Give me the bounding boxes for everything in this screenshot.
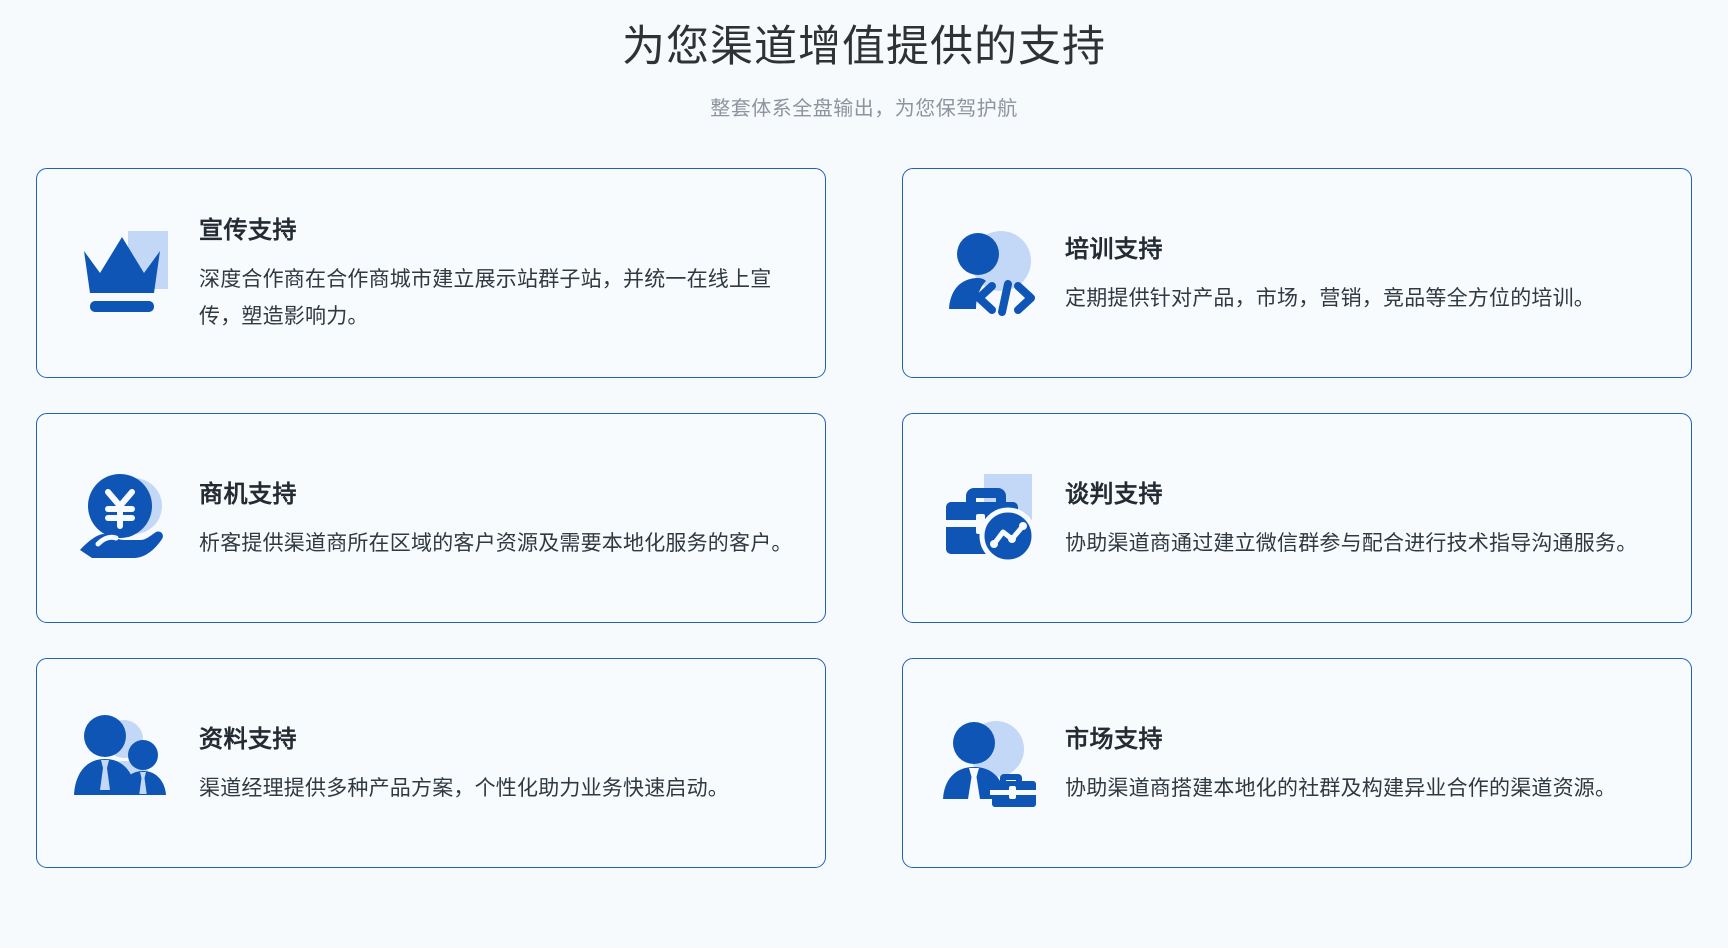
card-title: 培训支持 xyxy=(1065,229,1659,264)
support-card-training[interactable]: 培训支持 定期提供针对产品，市场，营销，竞品等全方位的培训。 xyxy=(902,168,1692,378)
support-cards-grid: 宣传支持 深度合作商在合作商城市建立展示站群子站，并统一在线上宣传，塑造影响力。… xyxy=(36,168,1692,868)
card-body: 谈判支持 协助渠道商通过建立微信群参与配合进行技术指导沟通服务。 xyxy=(1065,474,1665,563)
card-body: 培训支持 定期提供针对产品，市场，营销，竞品等全方位的培训。 xyxy=(1065,229,1665,318)
support-card-promotion[interactable]: 宣传支持 深度合作商在合作商城市建立展示站群子站，并统一在线上宣传，塑造影响力。 xyxy=(36,168,826,378)
card-body: 市场支持 协助渠道商搭建本地化的社群及构建异业合作的渠道资源。 xyxy=(1065,719,1665,808)
card-description: 协助渠道商通过建立微信群参与配合进行技术指导沟通服务。 xyxy=(1065,526,1659,563)
page-title: 为您渠道增值提供的支持 xyxy=(0,18,1728,76)
crown-icon xyxy=(65,214,183,332)
hand-yuan-coin-icon xyxy=(65,459,183,577)
person-briefcase-icon xyxy=(931,704,1049,822)
two-people-icon xyxy=(65,704,183,822)
card-body: 资料支持 渠道经理提供多种产品方案，个性化助力业务快速启动。 xyxy=(199,719,799,808)
card-title: 商机支持 xyxy=(199,474,793,509)
card-description: 定期提供针对产品，市场，营销，竞品等全方位的培训。 xyxy=(1065,281,1659,318)
briefcase-chart-icon xyxy=(931,459,1049,577)
support-card-business-opportunity[interactable]: 商机支持 析客提供渠道商所在区域的客户资源及需要本地化服务的客户。 xyxy=(36,413,826,623)
card-body: 商机支持 析客提供渠道商所在区域的客户资源及需要本地化服务的客户。 xyxy=(199,474,799,563)
card-description: 析客提供渠道商所在区域的客户资源及需要本地化服务的客户。 xyxy=(199,526,793,563)
support-card-materials[interactable]: 资料支持 渠道经理提供多种产品方案，个性化助力业务快速启动。 xyxy=(36,658,826,868)
card-body: 宣传支持 深度合作商在合作商城市建立展示站群子站，并统一在线上宣传，塑造影响力。 xyxy=(199,210,799,336)
card-title: 市场支持 xyxy=(1065,719,1659,754)
page-subtitle: 整套体系全盘输出，为您保驾护航 xyxy=(0,92,1728,121)
support-card-negotiation[interactable]: 谈判支持 协助渠道商通过建立微信群参与配合进行技术指导沟通服务。 xyxy=(902,413,1692,623)
card-description: 协助渠道商搭建本地化的社群及构建异业合作的渠道资源。 xyxy=(1065,771,1659,808)
card-title: 谈判支持 xyxy=(1065,474,1659,509)
support-card-market[interactable]: 市场支持 协助渠道商搭建本地化的社群及构建异业合作的渠道资源。 xyxy=(902,658,1692,868)
support-section: 为您渠道增值提供的支持 整套体系全盘输出，为您保驾护航 宣传支持 深度合作商在合… xyxy=(0,0,1728,948)
person-code-icon xyxy=(931,214,1049,332)
card-title: 资料支持 xyxy=(199,719,793,754)
card-description: 深度合作商在合作商城市建立展示站群子站，并统一在线上宣传，塑造影响力。 xyxy=(199,262,793,336)
card-description: 渠道经理提供多种产品方案，个性化助力业务快速启动。 xyxy=(199,771,793,808)
section-header: 为您渠道增值提供的支持 整套体系全盘输出，为您保驾护航 xyxy=(0,0,1728,121)
card-title: 宣传支持 xyxy=(199,210,793,245)
